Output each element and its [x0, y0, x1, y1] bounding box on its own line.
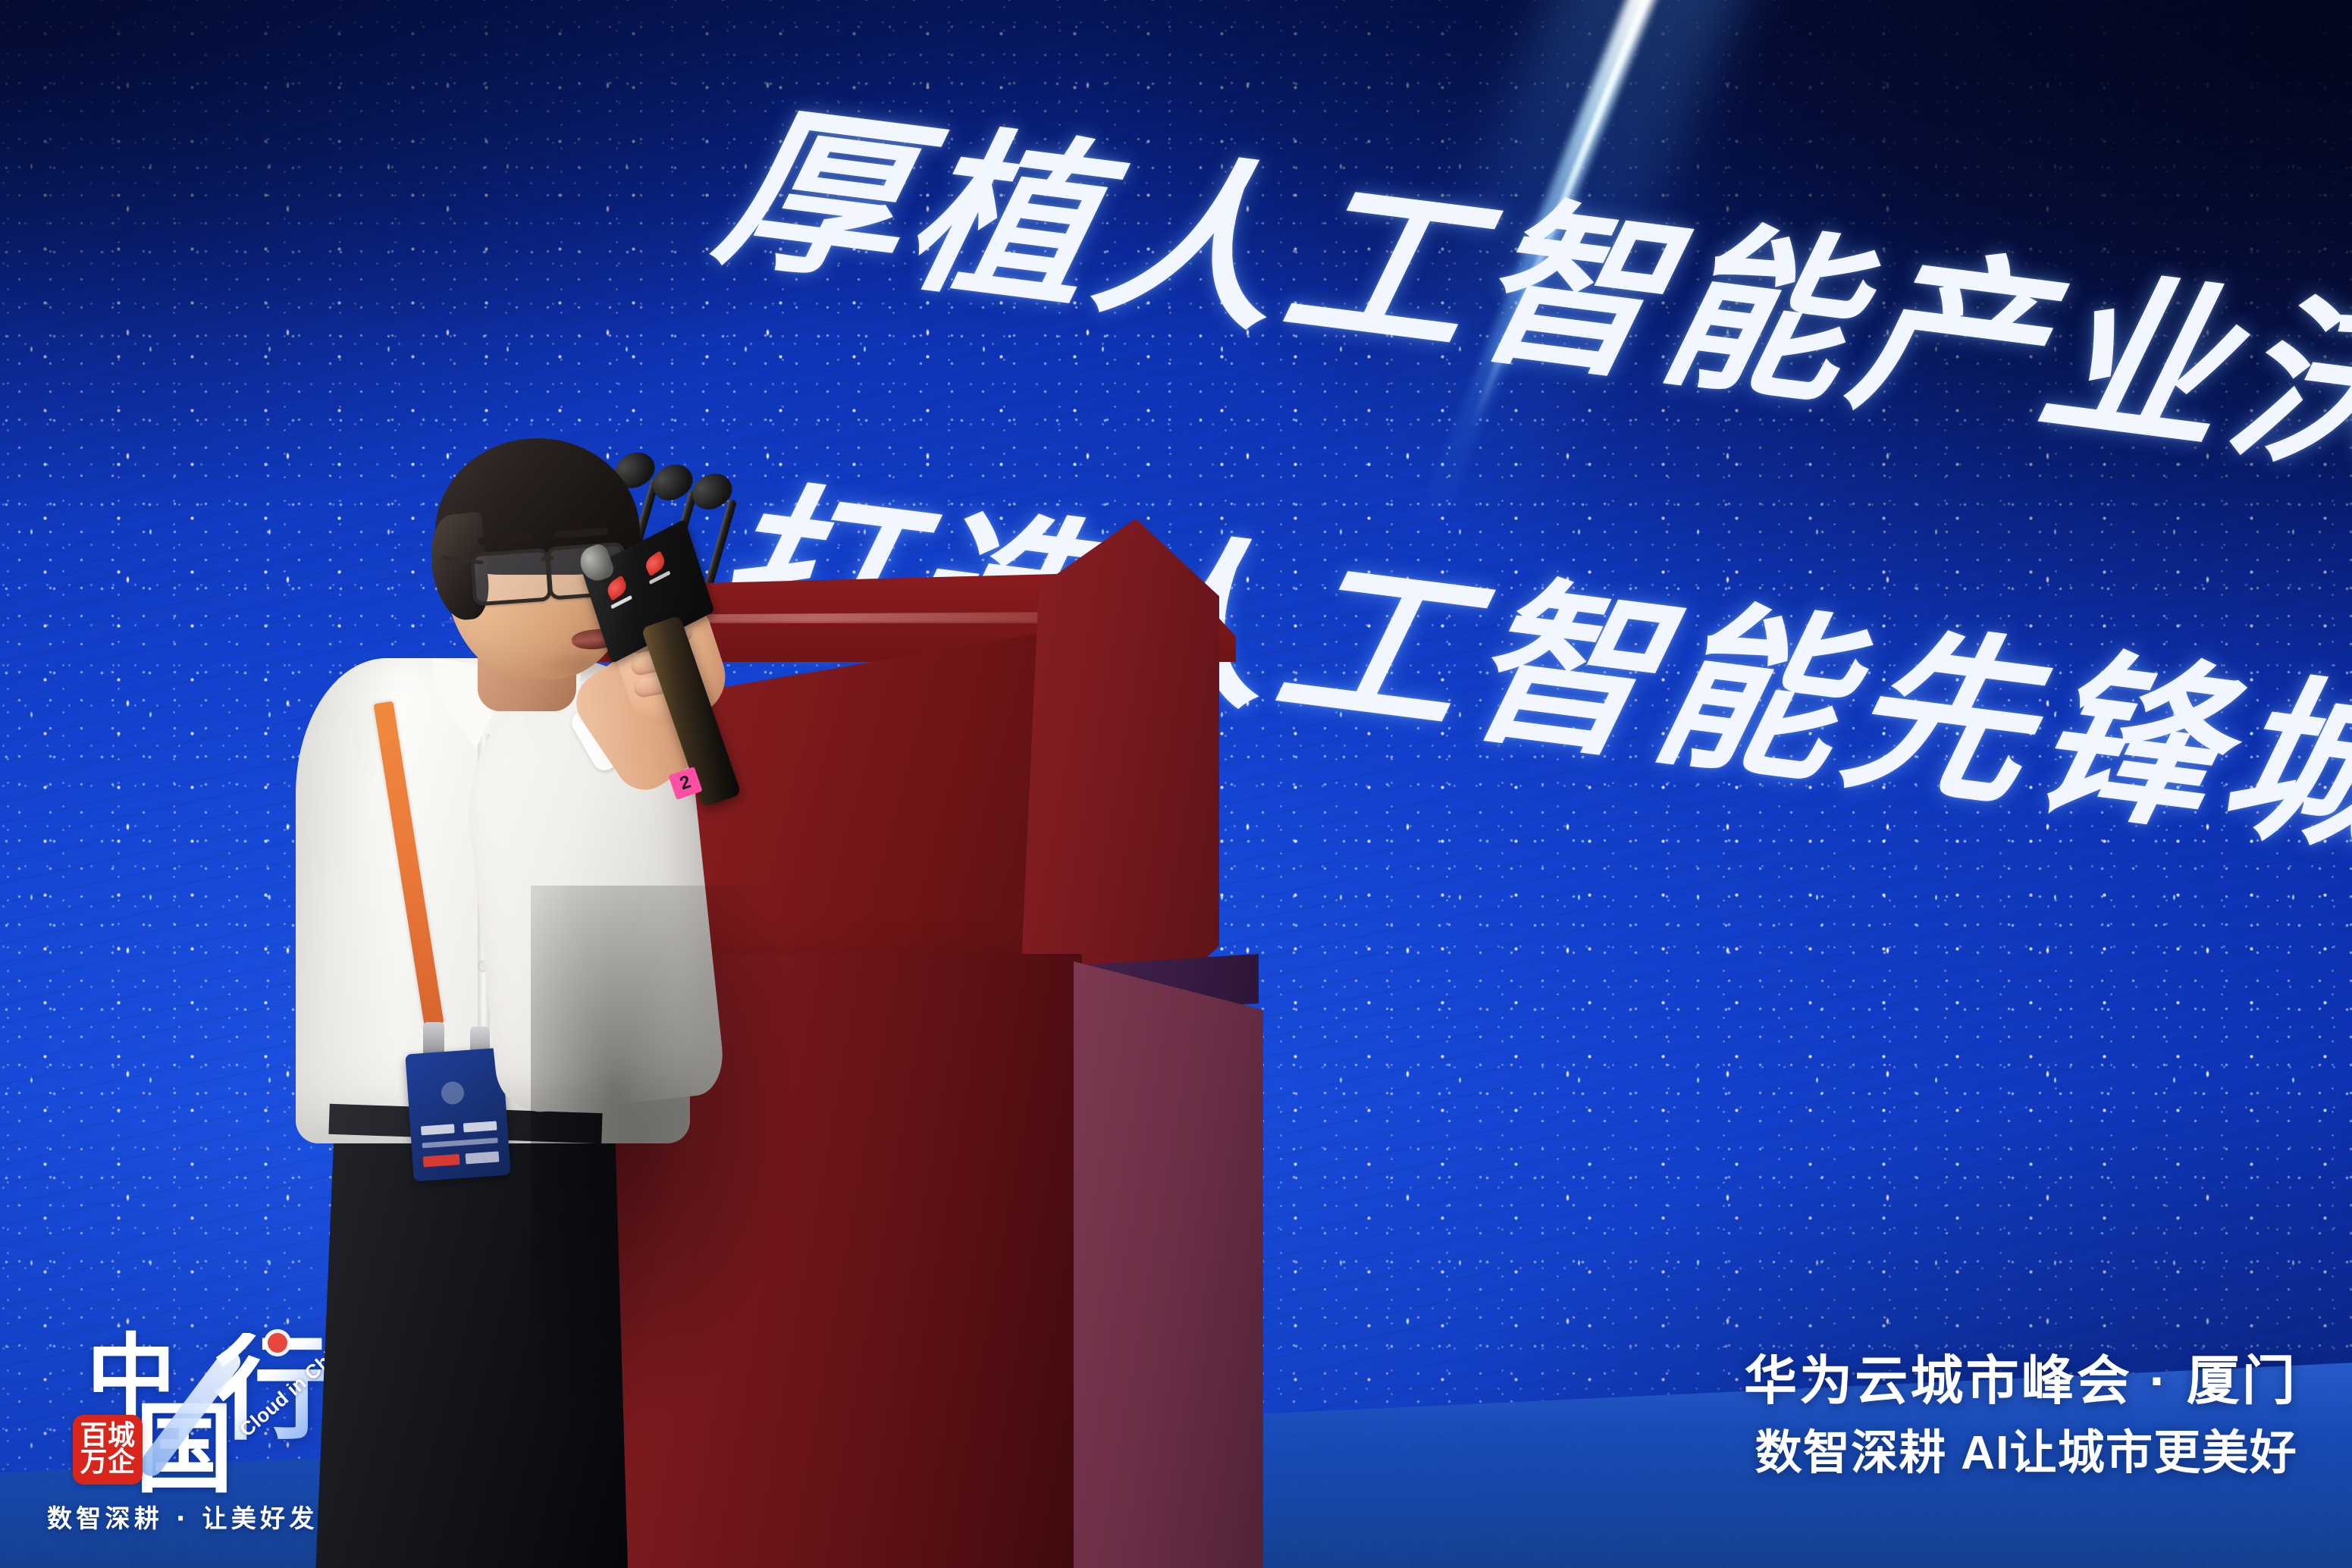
event-title-main: 华为云城市峰会 · 厦门: [1744, 1350, 2297, 1413]
event-title-sub: 数智深耕 AI让城市更美好: [1744, 1426, 2297, 1480]
logo-badge-text: 百城万企: [80, 1423, 136, 1475]
glasses-lens-left: [470, 547, 553, 606]
logo-red-badge: 百城万企: [73, 1415, 143, 1485]
event-title-block: 华为云城市峰会 · 厦门 数智深耕 AI让城市更美好: [1744, 1350, 2297, 1480]
speaker-trousers: [309, 1113, 628, 1568]
logo-badge-line2: 万企: [80, 1447, 136, 1478]
handheld-microphone: 2: [576, 543, 728, 831]
speaker-figure: 2: [250, 431, 796, 1568]
screenshot-root: 厚植人工智能产业沃土 打造人工智能先锋城市 华为云城市峰会 · 厦门 数智深耕 …: [0, 0, 2352, 1568]
lectern-base-side: [1074, 961, 1263, 1568]
